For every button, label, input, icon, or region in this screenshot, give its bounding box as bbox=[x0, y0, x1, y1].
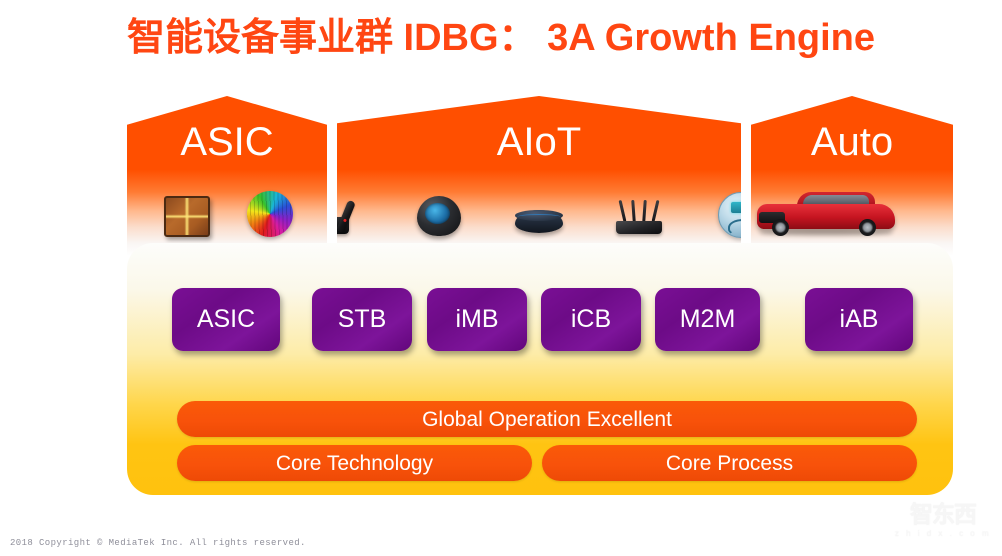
foundation-bar-core-technology[interactable]: Core Technology bbox=[177, 445, 532, 481]
foundation-bar-core-process[interactable]: Core Process bbox=[542, 445, 917, 481]
foundation-label-core-technology: Core Technology bbox=[276, 453, 433, 474]
banner-label-auto: Auto bbox=[751, 122, 953, 162]
slide-canvas: 智能设备事业群 IDBG： 3A Growth Engine ASIC AIoT bbox=[0, 0, 1002, 556]
module-label-m2m: M2M bbox=[680, 307, 736, 332]
module-box-stb[interactable]: STB bbox=[312, 288, 412, 351]
banner-row: ASIC AIoT bbox=[0, 96, 1002, 256]
banner-panel-auto[interactable]: Auto bbox=[751, 96, 953, 256]
red-suv-car-icon bbox=[751, 190, 901, 238]
banner-label-asic: ASIC bbox=[127, 122, 327, 162]
module-label-stb: STB bbox=[338, 307, 387, 332]
banner-panel-asic[interactable]: ASIC bbox=[127, 96, 327, 256]
module-box-iab[interactable]: iAB bbox=[805, 288, 913, 351]
banner-icons-aiot bbox=[337, 184, 741, 246]
foundation-bar-global-operation[interactable]: Global Operation Excellent bbox=[177, 401, 917, 437]
module-box-icb[interactable]: iCB bbox=[541, 288, 641, 351]
module-label-icb: iCB bbox=[571, 307, 611, 332]
module-box-imb[interactable]: iMB bbox=[427, 288, 527, 351]
module-label-iab: iAB bbox=[840, 307, 879, 332]
banner-label-aiot: AIoT bbox=[337, 122, 741, 162]
module-label-imb: iMB bbox=[455, 307, 498, 332]
module-row: ASIC STB iMB iCB M2M iAB bbox=[127, 288, 953, 352]
watermark-logo: 智东西 bbox=[893, 503, 993, 526]
smart-speaker-puck-icon bbox=[511, 188, 567, 242]
module-box-m2m[interactable]: M2M bbox=[655, 288, 760, 351]
watermark-domain: z h i d x . c o m bbox=[893, 529, 993, 538]
chip-die-icon bbox=[158, 188, 214, 242]
smart-display-speaker-icon bbox=[411, 188, 467, 242]
page-title: 智能设备事业群 IDBG： 3A Growth Engine bbox=[0, 6, 1002, 61]
platform-card: ASIC STB iMB iCB M2M iAB Global Operatio… bbox=[127, 243, 953, 495]
footer-copyright: 2018 Copyright © MediaTek Inc. All right… bbox=[10, 538, 306, 548]
wifi-router-icon bbox=[611, 188, 667, 242]
banner-panel-aiot[interactable]: AIoT bbox=[337, 96, 741, 256]
watermark: 智东西 z h i d x . c o m bbox=[893, 503, 993, 547]
banner-icons-asic bbox=[127, 184, 327, 246]
foundation-label-global-operation: Global Operation Excellent bbox=[422, 409, 672, 430]
banner-icons-auto bbox=[751, 184, 953, 246]
foundation-label-core-process: Core Process bbox=[666, 453, 793, 474]
module-label-asic: ASIC bbox=[197, 307, 255, 332]
silicon-wafer-icon bbox=[240, 188, 296, 242]
module-box-asic[interactable]: ASIC bbox=[172, 288, 280, 351]
